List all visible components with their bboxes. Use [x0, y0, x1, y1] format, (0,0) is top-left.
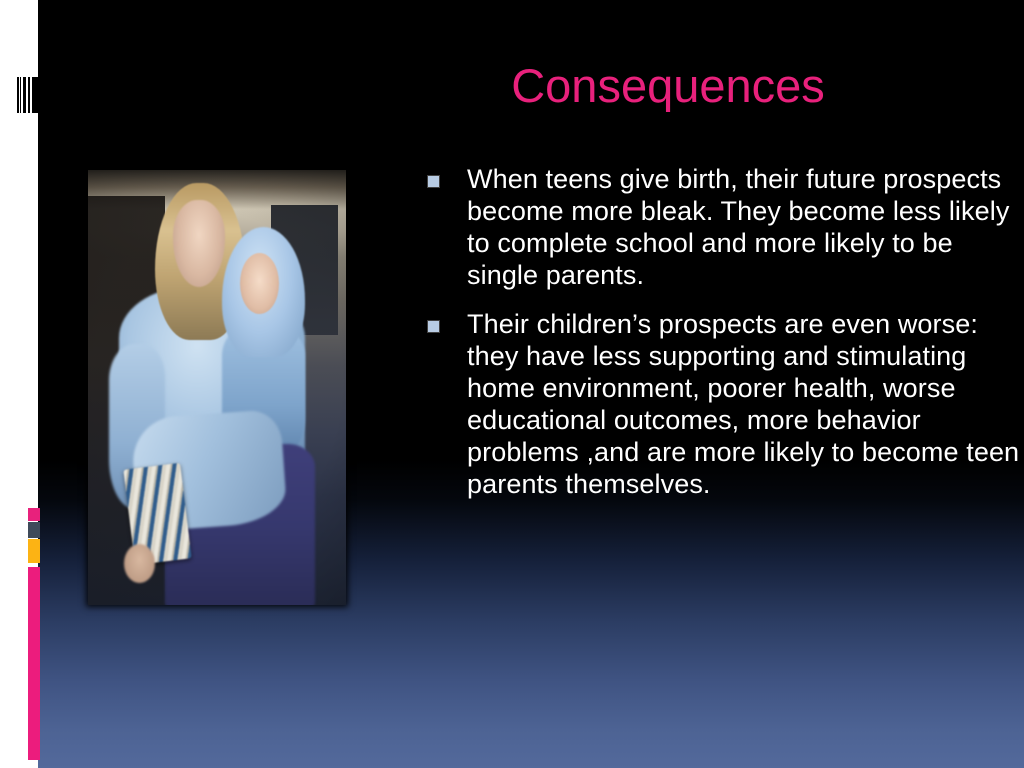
list-item: When teens give birth, their future pros… — [428, 163, 1024, 292]
slide-photo — [88, 170, 346, 605]
presentation-slide: Consequences When teens give birth, thei… — [0, 0, 1024, 768]
bullet-list: When teens give birth, their future pros… — [428, 163, 1024, 516]
photo-mother-hand — [124, 544, 155, 583]
bullet-text: Their children’s prospects are even wors… — [467, 308, 1024, 501]
accent-chip-slate — [28, 522, 40, 538]
photo-image — [88, 170, 346, 605]
photo-baby-face — [240, 253, 279, 314]
barcode-stripes-icon — [17, 77, 41, 113]
accent-bar-pink — [28, 567, 40, 760]
square-bullet-icon — [428, 176, 439, 187]
accent-chip-pink — [28, 508, 40, 521]
bullet-text: When teens give birth, their future pros… — [467, 163, 1019, 292]
list-item: Their children’s prospects are even wors… — [428, 308, 1024, 501]
accent-chip-yellow — [28, 539, 40, 563]
page-title: Consequences — [343, 62, 993, 109]
square-bullet-icon — [428, 321, 439, 332]
